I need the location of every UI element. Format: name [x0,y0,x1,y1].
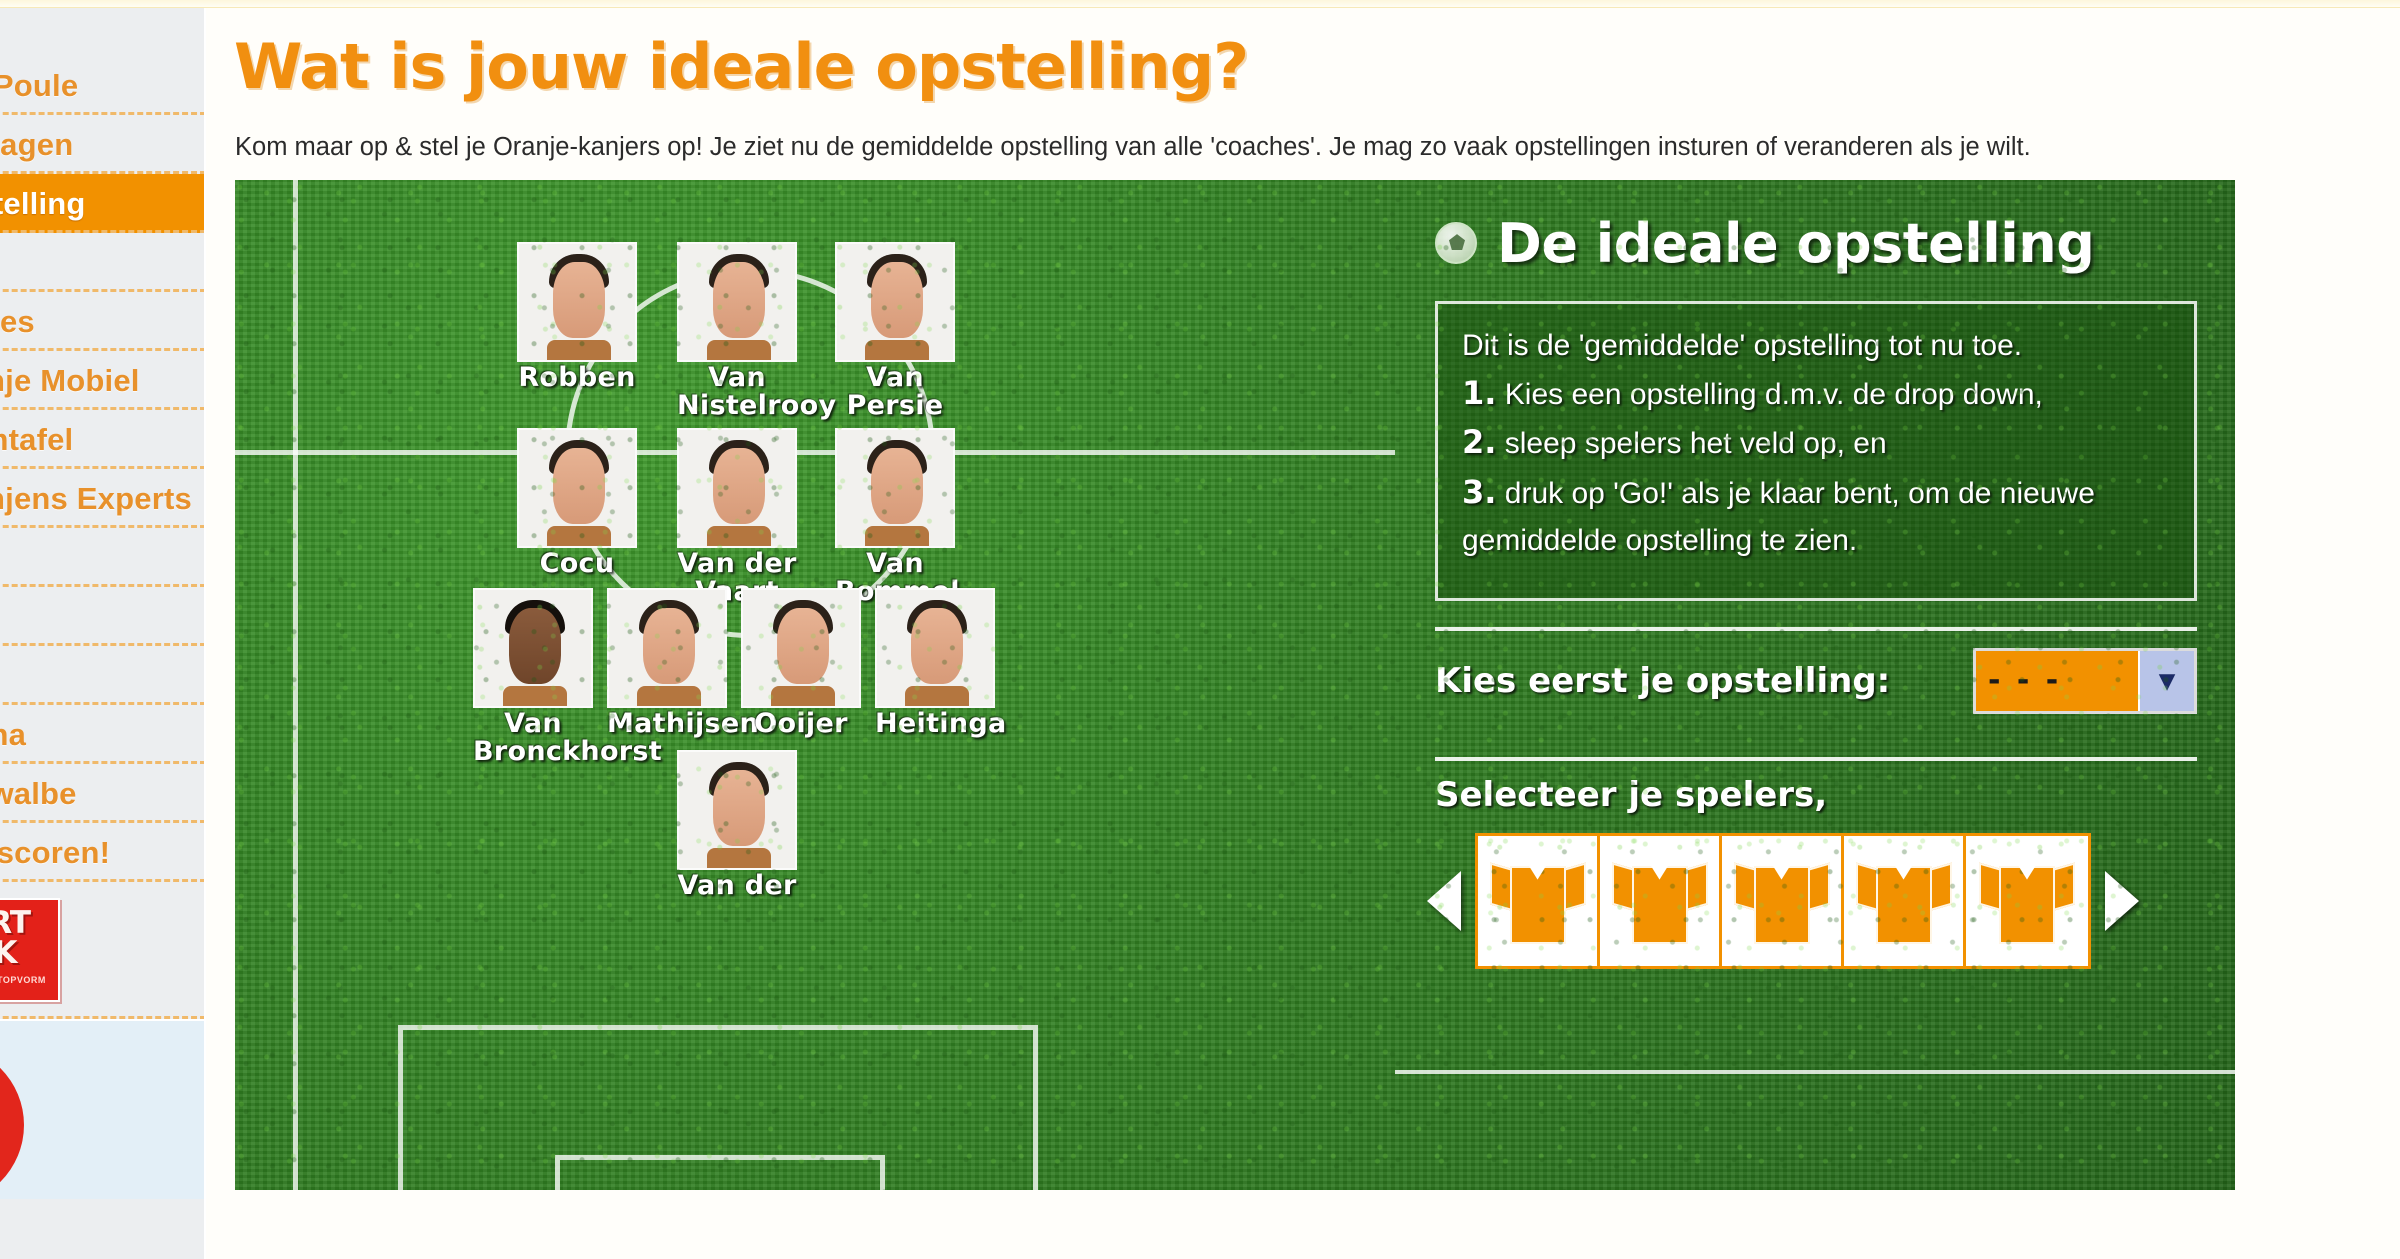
player-card[interactable]: Robben [517,242,637,392]
sidebar-logo-secondary[interactable]: Z [0,1019,206,1199]
panel-instructions-box: Dit is de 'gemiddelde' opstelling tot nu… [1435,301,2197,601]
panel-steps-list: 1. Kies een opstelling d.m.v. de drop do… [1462,373,2170,514]
player-card[interactable]: Mathijsen [607,588,727,738]
panel-step: 2. sleep spelers het veld op, en [1462,422,2170,464]
player-card[interactable]: Cocu [517,428,637,578]
sportweek-logo[interactable]: SPORT WEEK TIJDSCHRIFT & TOPVORM [0,898,60,1002]
player-head [713,770,765,846]
formation-label: Kies eerst je opstelling: [1435,661,1890,701]
player-shoulders [865,526,929,546]
sportweek-line2: WEEK [0,938,52,968]
sidebar-logo-sportweek-wrap: SPORT WEEK TIJDSCHRIFT & TOPVORM [0,882,206,1019]
panel-step: 3. druk op 'Go!' als je klaar bent, om d… [1462,472,2170,514]
panel-step-text: druk op 'Go!' als je klaar bent, om de n… [1505,477,2095,510]
pitch-widget[interactable]: RobbenVan NistelrooyVan PersieCocuVan de… [235,180,2235,1190]
arrow-left-icon[interactable] [1427,871,1461,931]
player-photo [517,242,637,362]
player-head [713,262,765,338]
sidebar-item-oranjens-experts[interactable]: Oranjens Experts [0,469,206,528]
player-carousel [1427,833,2197,969]
secondary-logo-circle: Z [0,1045,24,1199]
player-shoulders [707,340,771,360]
panel-divider-3 [1395,1070,2235,1074]
sidebar-item-opstelling[interactable]: Opstelling [0,174,206,233]
sidebar-item-empty-9 [0,587,206,646]
page-title: Wat is jouw ideale opstelling? [234,30,2400,103]
player-card[interactable]: Van Persie [835,242,955,421]
players-label: Selecteer je spelers, [1435,761,2197,815]
pitch-field[interactable]: RobbenVan NistelrooyVan PersieCocuVan de… [235,180,1395,1190]
sidebar-item-quizes[interactable]: Quizes [0,292,206,351]
panel-step-number: 2. [1462,423,1496,461]
player-name: Heitinga [875,710,995,738]
player-name: Van Persie [835,364,955,421]
arrow-right-icon[interactable] [2105,871,2139,931]
shirt-icon [1856,858,1952,944]
player-name: Van Nistelrooy [677,364,797,421]
player-head [643,608,695,684]
player-name: Mathijsen [607,710,727,738]
page-root: WK PouleUitslagenOpstellingQuizesOranje … [0,0,2400,1259]
player-head [553,262,605,338]
player-photo [677,750,797,870]
sidebar-item-panna[interactable]: Panna [0,705,206,764]
sidebar-top-spacer [0,8,206,56]
shirt-slot-list [1475,833,2091,969]
player-name: Van der [677,872,797,900]
player-shoulders [637,686,701,706]
sidebar-item-zelf-scoren[interactable]: Zelf scoren! [0,823,206,882]
player-photo [835,242,955,362]
player-photo [835,428,955,548]
panel-intro-line: Dit is de 'gemiddelde' opstelling tot nu… [1462,326,2170,365]
shirt-slot[interactable] [1722,836,1844,966]
top-strip [0,0,2400,8]
player-name: Ooijer [741,710,861,738]
panel-bottom-band [1395,1070,2235,1190]
player-shoulders [865,340,929,360]
shirt-slot[interactable] [1844,836,1966,966]
player-shoulders [771,686,835,706]
sidebar-item-list: WK PouleUitslagenOpstellingQuizesOranje … [0,56,206,882]
sidebar-item-oranje-mobiel[interactable]: Oranje Mobiel [0,351,206,410]
sportweek-line1: SPORT [0,908,52,938]
shirt-icon [1490,858,1586,944]
sidebar-inner: WK PouleUitslagenOpstellingQuizesOranje … [0,8,206,1199]
player-shoulders [547,340,611,360]
player-shoulders [707,526,771,546]
sidebar: WK PouleUitslagenOpstellingQuizesOranje … [0,8,206,1259]
player-head [713,448,765,524]
player-card[interactable]: Heitinga [875,588,995,738]
player-head [509,608,561,684]
player-card[interactable]: Van Bommel [835,428,955,607]
shirt-icon [1979,858,2075,944]
football-icon [1435,222,1477,264]
panel-step-text: Kies een opstelling d.m.v. de drop down, [1505,378,2043,411]
player-head [871,262,923,338]
player-photo [677,428,797,548]
shirt-slot[interactable] [1966,836,2088,966]
player-card[interactable]: Van Nistelrooy [677,242,797,421]
panel-title: De ideale opstelling [1497,212,2094,275]
player-name: Van Bronckhorst [473,710,593,767]
player-photo [473,588,593,708]
player-head [553,448,605,524]
sidebar-item-uitslagen[interactable]: Uitslagen [0,115,206,174]
panel-step: 1. Kies een opstelling d.m.v. de drop do… [1462,373,2170,415]
main-content: Wat is jouw ideale opstelling? Kom maar … [232,8,2400,1259]
panel-step-number: 3. [1462,473,1496,511]
sidebar-item-wk-poule[interactable]: WK Poule [0,56,206,115]
secondary-logo-letter: Z [0,1079,3,1183]
player-shoulders [503,686,567,706]
player-card[interactable]: Van der [677,750,797,900]
panel-step-text: sleep spelers het veld op, en [1505,427,1887,460]
shirt-slot[interactable] [1600,836,1722,966]
player-name: Robben [517,364,637,392]
player-card[interactable]: Ooijer [741,588,861,738]
player-photo [741,588,861,708]
player-card[interactable]: Van Bronckhorst [473,588,593,767]
sidebar-item-schwalbe[interactable]: Schwalbe [0,764,206,823]
player-photo [677,242,797,362]
sidebar-item-[interactable]: ... [0,528,206,587]
player-shoulders [547,526,611,546]
pitch-goal-box [555,1155,885,1190]
sidebar-item-stamtafel[interactable]: Stamtafel [0,410,206,469]
chevron-down-icon[interactable]: ▾ [2138,651,2194,711]
sidebar-item-empty-3 [0,233,206,292]
player-head [871,448,923,524]
player-name: Cocu [517,550,637,578]
panel-steps-tail: gemiddelde opstelling te zien. [1462,521,2170,560]
sidebar-item-empty-10 [0,646,206,705]
shirt-icon [1734,858,1830,944]
shirt-icon [1612,858,1708,944]
player-head [911,608,963,684]
page-intro-text: Kom maar op & stel je Oranje-kanjers op!… [235,131,2245,164]
player-shoulders [707,848,771,868]
panel-header: De ideale opstelling [1435,212,2207,275]
player-photo [607,588,727,708]
panel-step-number: 1. [1462,374,1496,412]
formation-select-value: - - - [1976,651,2138,711]
formation-row: Kies eerst je opstelling: - - - ▾ [1435,631,2197,731]
player-head [777,608,829,684]
shirt-slot[interactable] [1478,836,1600,966]
player-photo [517,428,637,548]
pitch-line-sideline [293,180,298,1190]
player-card[interactable]: Van der Vaart [677,428,797,607]
player-shoulders [905,686,969,706]
player-photo [875,588,995,708]
formation-select[interactable]: - - - ▾ [1973,648,2197,714]
info-panel: De ideale opstelling Dit is de 'gemiddel… [1395,180,2235,1190]
sportweek-line3: TIJDSCHRIFT & TOPVORM [0,975,52,985]
